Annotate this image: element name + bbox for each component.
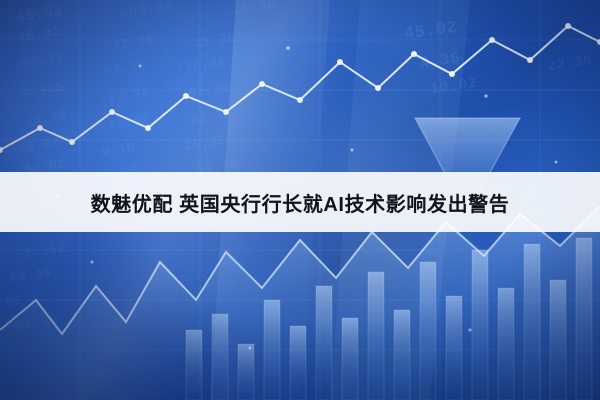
network-node [375,85,381,91]
network-node [449,71,455,77]
upper-network-line [0,26,600,150]
chart-bar [368,272,384,400]
network-node [0,147,3,153]
network-node [145,125,151,131]
ghost-number: 02.32 [5,289,48,310]
network-node [565,23,571,29]
chart-bar [238,344,254,400]
network-node [109,109,115,115]
network-node [297,97,303,103]
ghost-number: 45.32 [15,3,64,26]
chart-bar [420,262,436,400]
network-node [411,51,417,57]
network-node [183,93,189,99]
ghost-number: -02.36 [119,0,174,22]
ghost-number: -02.35 [13,51,64,73]
ghost-number: -45.02 [175,55,226,77]
network-node [489,37,495,43]
network-nodes [0,23,600,153]
network-node [69,139,75,145]
chart-bar [498,288,514,400]
background-glow-center [150,120,450,380]
ghost-number: 1.16 [33,108,68,127]
ghost-number: -02.36 [7,313,58,335]
ghost-number: -50.02 [9,135,60,157]
chart-bar [290,326,306,400]
ghost-number: -02.36 [179,81,230,103]
ghost-number: 21.36 [231,0,277,19]
ghost-number: -02.36 [103,33,154,55]
bar-series [186,238,592,400]
ghost-number: 1.425 [21,79,64,100]
headline-band: 数魅优配 英国央行行长就AI技术影响发出警告 [0,172,600,232]
network-node [37,125,43,131]
chart-bar [264,300,280,400]
network-node [527,57,533,63]
network-node [259,81,265,87]
ghost-number: 4.36 [419,49,462,72]
chart-bar [550,280,566,400]
chart-bar [524,244,540,400]
chart-bar [576,238,592,400]
chart-bar [212,314,228,400]
chart-bar [316,286,332,400]
image-canvas: 45.32-02.3621.3645.02-45.32-02.36-11.254… [0,0,600,400]
ghost-number: 0.1N [101,140,136,159]
ghost-number: -02.36 [181,107,232,129]
headline-text: 数魅优配 英国央行行长就AI技术影响发出警告 [91,188,510,217]
chart-bar [446,296,462,400]
chart-bar [472,250,488,400]
network-node [337,59,343,65]
chart-bar [342,318,358,400]
ghost-number: -1.362 [15,241,66,263]
ghost-number: -02.36 [99,85,150,107]
chart-bar [394,310,410,400]
area-fill-lower [0,206,600,400]
ghost-number: 10.02 [429,75,478,98]
ghost-number: -11.25 [185,31,236,53]
ghost-number: -45.32 [7,24,62,47]
chart-bar [186,330,202,400]
ghost-number: -50.02 [99,113,150,135]
network-node [223,109,229,115]
ghost-number: -02.36 [95,59,146,81]
ghost-number: -25.32 [175,133,226,155]
ghost-number: 22.36 [547,53,593,75]
background-glow-bottom-left [0,220,320,400]
ghost-number: 02.35 [9,265,52,286]
ghost-number: 45.02 [403,18,459,44]
